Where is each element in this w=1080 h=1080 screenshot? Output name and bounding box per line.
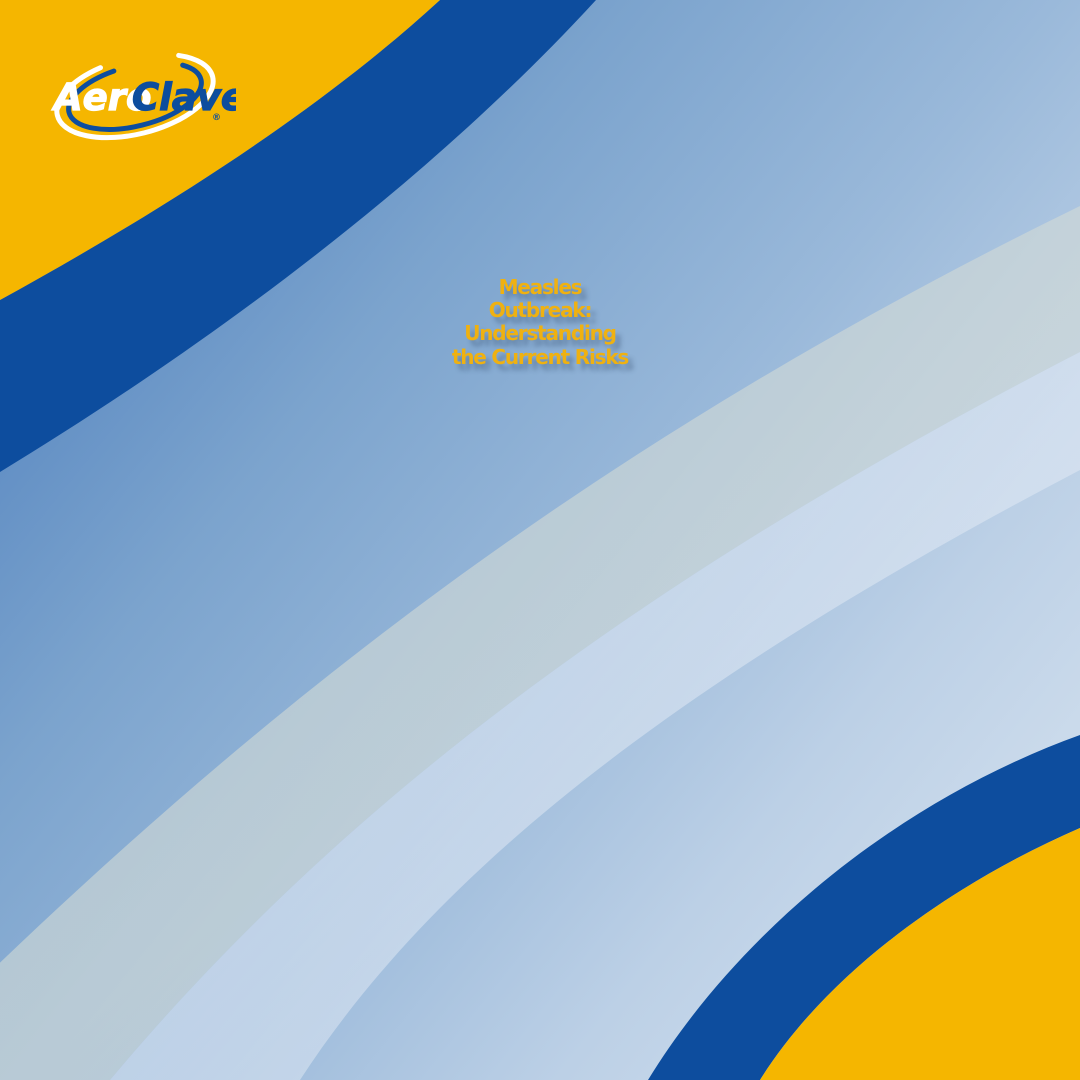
title-line-4: the Current Risks <box>28 346 1052 369</box>
aeroclave-logo-mark: Aero Clave ® <box>36 44 236 148</box>
page-title: Measles Outbreak: Understanding the Curr… <box>0 276 1080 369</box>
title-line-1: Measles <box>28 276 1052 299</box>
aeroclave-logo[interactable]: Aero Clave ® <box>36 44 236 148</box>
background-artwork <box>0 0 1080 1080</box>
title-line-2: Outbreak: <box>28 299 1052 322</box>
title-line-3: Understanding <box>28 322 1052 345</box>
logo-wordmark: Aero Clave ® <box>51 76 236 123</box>
logo-registered-mark: ® <box>212 113 221 123</box>
social-graphic-canvas: Aero Clave ® Measles Outbreak: Understan… <box>0 0 1080 1080</box>
